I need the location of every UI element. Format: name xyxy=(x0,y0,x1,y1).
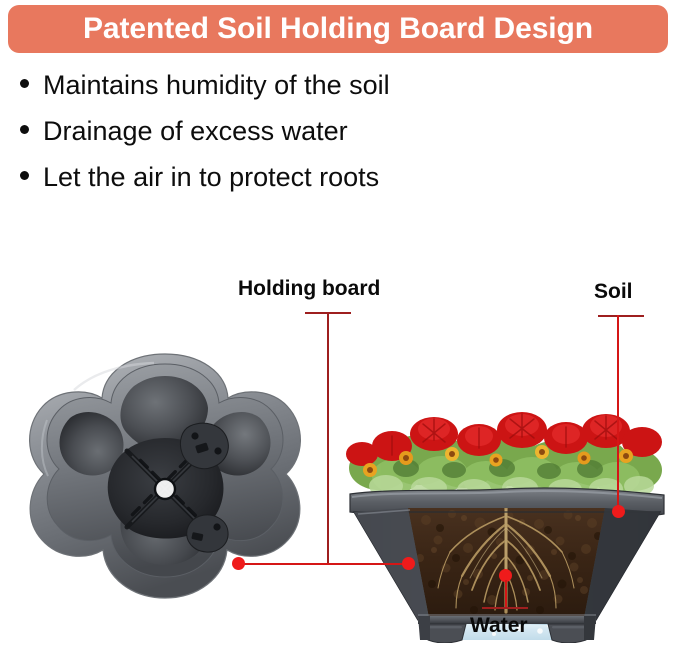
callout-label-soil: Soil xyxy=(594,281,633,302)
board-mount-boss-upper xyxy=(180,423,228,468)
leader-stem-water xyxy=(505,580,507,608)
product-infographic: Patented Soil Holding Board Design Maint… xyxy=(0,0,679,651)
bullet-dot-icon xyxy=(20,171,29,180)
reservoir-wall-left xyxy=(418,616,430,640)
feature-list: Maintains humidity of the soil Drainage … xyxy=(20,72,640,210)
header-banner: Patented Soil Holding Board Design xyxy=(8,5,668,53)
bullet-dot-icon xyxy=(20,79,29,88)
leader-stem-holding-board xyxy=(327,312,329,564)
page-title: Patented Soil Holding Board Design xyxy=(83,14,593,44)
leader-stem-soil xyxy=(617,315,619,513)
leader-run-holding-board xyxy=(238,563,410,565)
board-mount-boss-lower xyxy=(187,515,228,552)
feature-text: Drainage of excess water xyxy=(43,118,348,145)
feature-text: Maintains humidity of the soil xyxy=(43,72,390,99)
list-item: Maintains humidity of the soil xyxy=(20,72,640,118)
feature-text: Let the air in to protect roots xyxy=(43,164,379,191)
marker-dot-board-tray xyxy=(232,557,245,570)
reservoir-wall-right xyxy=(584,616,596,640)
list-item: Let the air in to protect roots xyxy=(20,164,640,210)
leader-tbar-soil xyxy=(598,315,644,317)
callout-label-water: Water xyxy=(470,615,528,636)
leader-tbar-water xyxy=(482,607,528,609)
diagram-area: Holding board Soil Water xyxy=(0,258,679,651)
marker-dot-soil xyxy=(612,505,625,518)
bullet-dot-icon xyxy=(20,125,29,134)
list-item: Drainage of excess water xyxy=(20,118,640,164)
marker-dot-board-planter xyxy=(402,557,415,570)
callout-label-holding-board: Holding board xyxy=(238,278,380,299)
holding-board-photo xyxy=(14,350,316,640)
